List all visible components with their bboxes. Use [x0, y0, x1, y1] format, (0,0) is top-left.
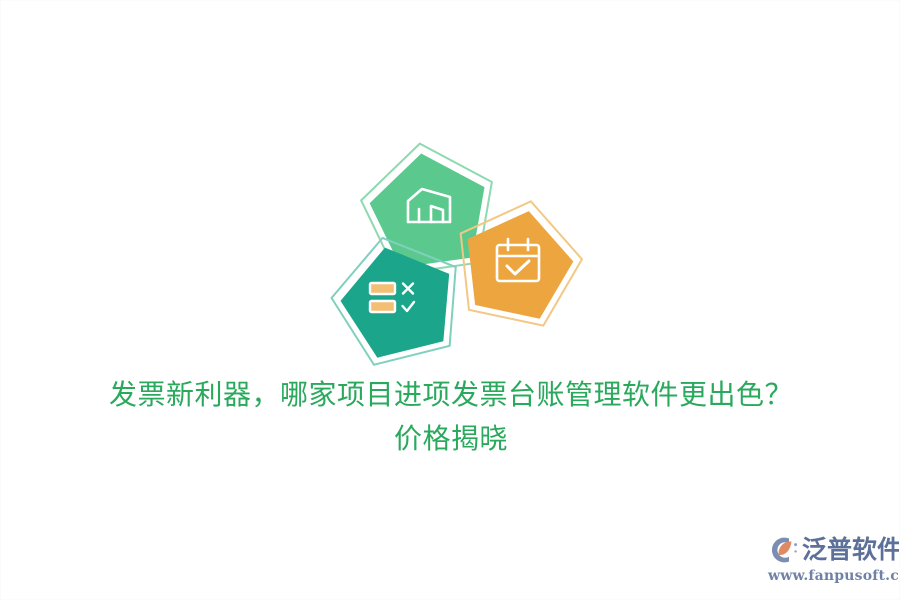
page-title-line-2: 价格揭晓 [1, 417, 900, 461]
pentagon-teal [331, 233, 465, 365]
brand-url: www.fanpusoft.com [767, 568, 893, 584]
pentagon-orange [453, 197, 581, 325]
logo-accent-dot-bottom [794, 550, 796, 552]
pentagon-cluster-graphic [331, 139, 581, 364]
logo-accent-dot-top [794, 543, 797, 546]
pentagon-orange-body [455, 200, 582, 323]
pentagon-teal-body [331, 234, 465, 363]
poster-canvas: 发票新利器，哪家项目进项发票台账管理软件更出色？ 价格揭晓 泛普软件 www.f… [0, 0, 900, 600]
brand-name: 泛普软件 [802, 535, 900, 565]
brand-logo-row: 泛普软件 [767, 533, 893, 567]
brand-logo[interactable]: 泛普软件 www.fanpusoft.com [767, 533, 893, 585]
page-title-line-1: 发票新利器，哪家项目进项发票台账管理软件更出色？ [1, 373, 900, 417]
fanpu-swirl-logo-icon [767, 535, 799, 565]
page-title: 发票新利器，哪家项目进项发票台账管理软件更出色？ 价格揭晓 [1, 373, 900, 461]
